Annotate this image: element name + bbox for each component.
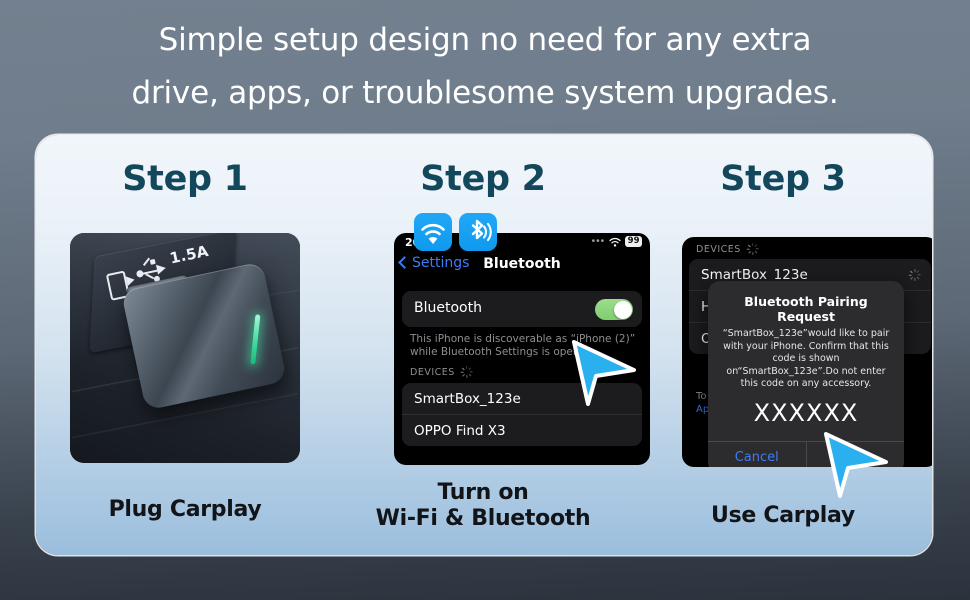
step-3-caption: Use Carplay [634, 503, 932, 529]
step-2-title: Step 2 [334, 159, 632, 199]
loading-spinner-icon [747, 243, 759, 255]
list-item[interactable]: OPPO Find X3 [402, 414, 642, 446]
step-3-caption-line-1: Use Carplay [711, 503, 855, 528]
usb-amperage-label: 1.5A [168, 242, 210, 268]
toggle-knob [614, 301, 632, 319]
arrow-icon [126, 275, 136, 286]
step-2-caption-line-1: Turn on [334, 480, 632, 506]
loading-spinner-icon [909, 269, 921, 281]
devices-header-label: DEVICES [410, 367, 455, 378]
devices-header-label: DEVICES [696, 244, 741, 255]
step-2-caption-line-2: Wi-Fi & Bluetooth [334, 506, 632, 532]
step-1-title: Step 1 [36, 159, 334, 199]
pairing-code: XXXXXX [708, 399, 904, 427]
bluetooth-toggle-label: Bluetooth [414, 300, 482, 316]
status-dots: ••• [592, 236, 606, 247]
step-1-caption: Plug Carplay [36, 497, 334, 523]
dialog-body: “SmartBox_123e”would like to pair with y… [718, 328, 894, 391]
loading-spinner-icon [461, 366, 473, 378]
step-3-phone-screen: DEVICES SmartBox_123e H1 OP [682, 237, 932, 467]
step-2-feature-icons [414, 213, 497, 251]
devices-section-header: DEVICES [410, 366, 473, 378]
headline-line-2: drive, apps, or troublesome system upgra… [0, 67, 970, 120]
devices-section-header: DEVICES [696, 243, 759, 255]
nav-title: Bluetooth [394, 256, 650, 272]
bluetooth-toggle-row[interactable]: Bluetooth [402, 291, 642, 327]
cursor-pointer-icon [820, 430, 892, 500]
settings-nav-bar: Settings Bluetooth [394, 253, 650, 279]
status-wifi-icon [609, 237, 621, 247]
cursor-pointer-icon [568, 338, 640, 408]
step-1-photo-dongle: 1.5A [70, 233, 300, 463]
steps-card: Step 1 1.5A [36, 135, 932, 555]
page-headline: Simple setup design no need for any extr… [0, 14, 970, 120]
wifi-icon [414, 213, 452, 251]
step-1-column: Step 1 1.5A [36, 135, 334, 555]
cancel-button[interactable]: Cancel [708, 442, 806, 468]
device-name: OPPO Find X3 [414, 423, 506, 439]
promo-page: Simple setup design no need for any extr… [0, 0, 970, 600]
step-3-title: Step 3 [634, 159, 932, 199]
headline-line-1: Simple setup design no need for any extr… [0, 14, 970, 67]
dongle-led-indicator [250, 314, 260, 364]
step-1-caption-line-1: Plug Carplay [109, 497, 262, 522]
step-2-caption: Turn on Wi-Fi & Bluetooth [334, 480, 632, 532]
device-name: SmartBox_123e [414, 391, 521, 407]
dialog-title: Bluetooth Pairing Request [718, 294, 894, 324]
bluetooth-toggle-switch[interactable] [595, 299, 633, 320]
bluetooth-icon [459, 213, 497, 251]
